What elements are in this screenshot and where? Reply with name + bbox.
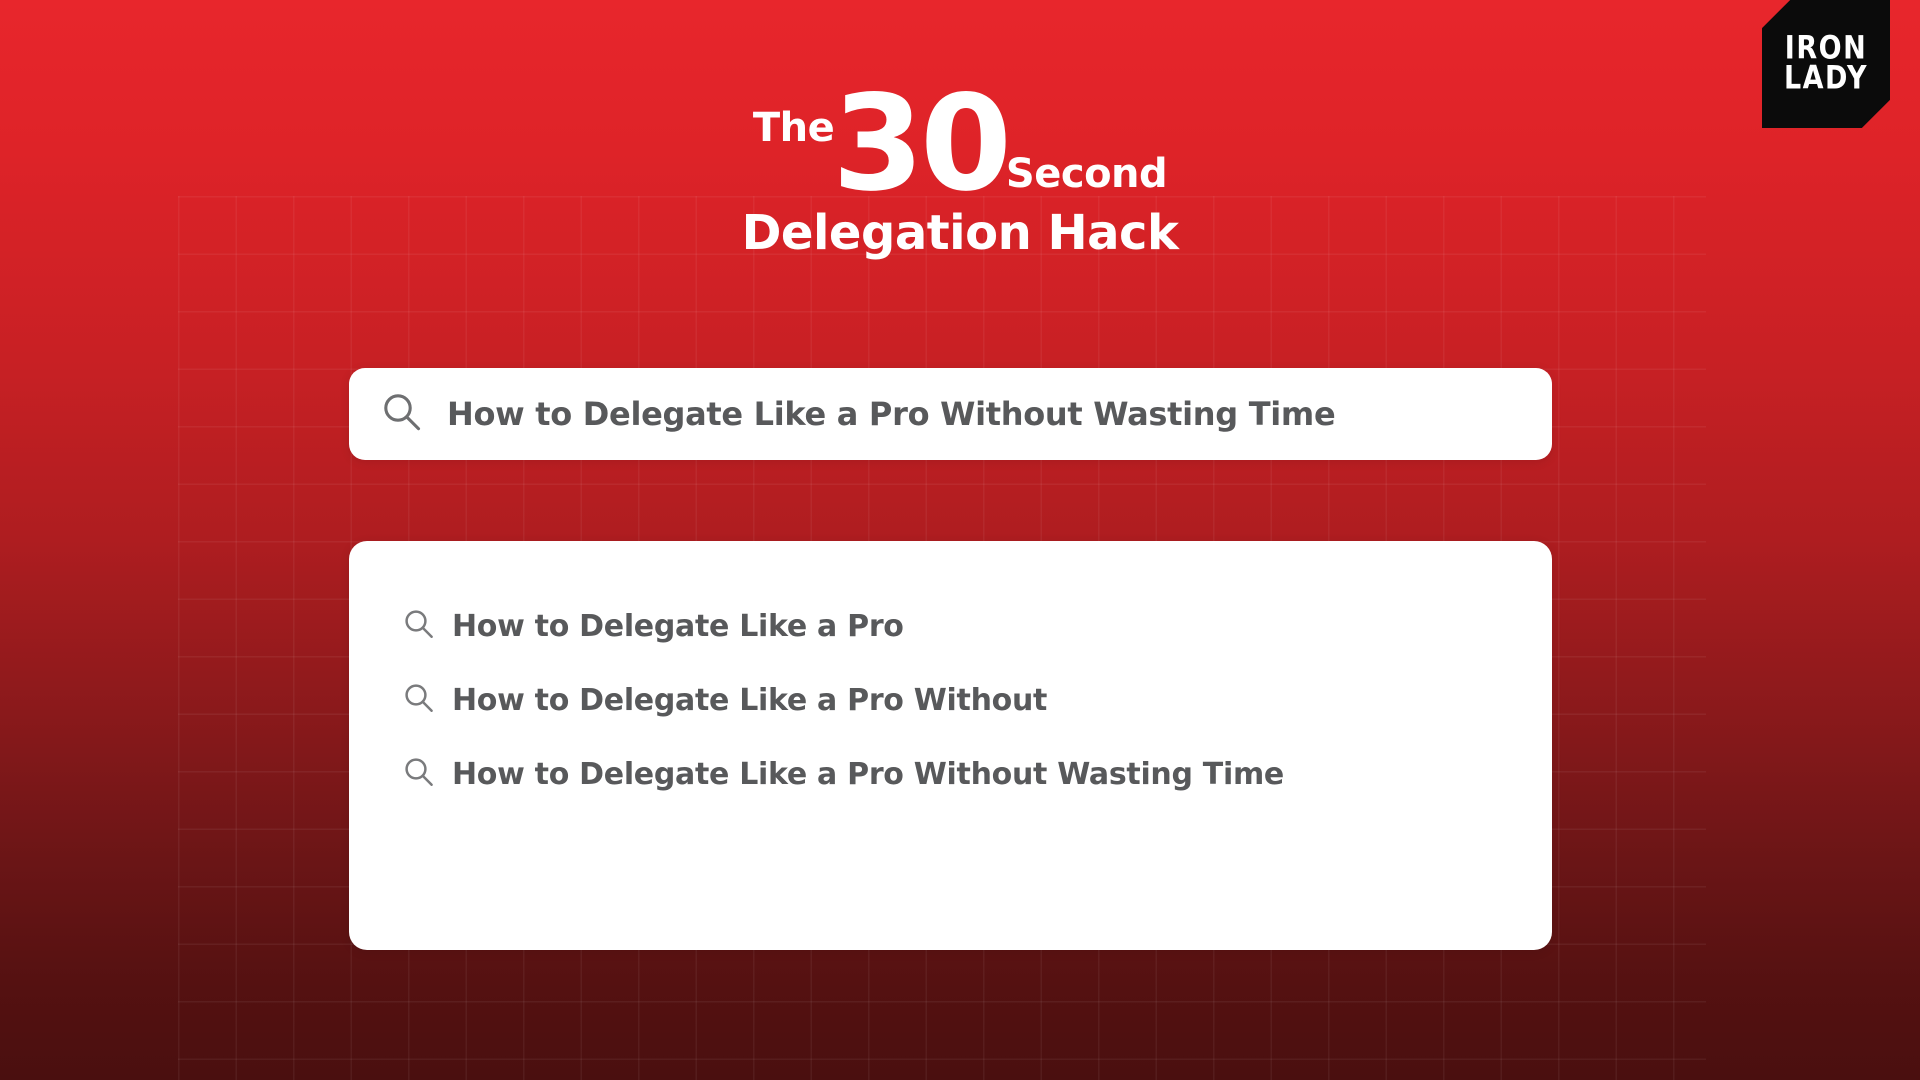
search-icon <box>381 391 423 438</box>
search-icon <box>403 756 435 793</box>
headline: The 30 Second Delegation Hack <box>0 78 1920 261</box>
headline-unit: Second <box>1006 154 1167 194</box>
suggestion-item[interactable]: How to Delegate Like a Pro <box>349 589 1552 663</box>
suggestion-item[interactable]: How to Delegate Like a Pro Without <box>349 663 1552 737</box>
suggestion-label: How to Delegate Like a Pro <box>452 609 904 644</box>
suggestion-label: How to Delegate Like a Pro Without Wasti… <box>452 757 1284 792</box>
headline-number: 30 <box>832 78 1008 210</box>
headline-subtitle: Delegation Hack <box>0 206 1920 261</box>
headline-prefix: The <box>753 108 834 148</box>
suggestion-item[interactable]: How to Delegate Like a Pro Without Wasti… <box>349 737 1552 811</box>
search-bar[interactable]: How to Delegate Like a Pro Without Wasti… <box>349 368 1552 460</box>
search-input[interactable]: How to Delegate Like a Pro Without Wasti… <box>447 395 1335 433</box>
headline-row-primary: The 30 Second <box>0 78 1920 210</box>
suggestion-label: How to Delegate Like a Pro Without <box>452 683 1047 718</box>
search-icon <box>403 608 435 645</box>
search-icon <box>403 682 435 719</box>
search-suggestions-panel: How to Delegate Like a Pro How to Delega… <box>349 541 1552 950</box>
